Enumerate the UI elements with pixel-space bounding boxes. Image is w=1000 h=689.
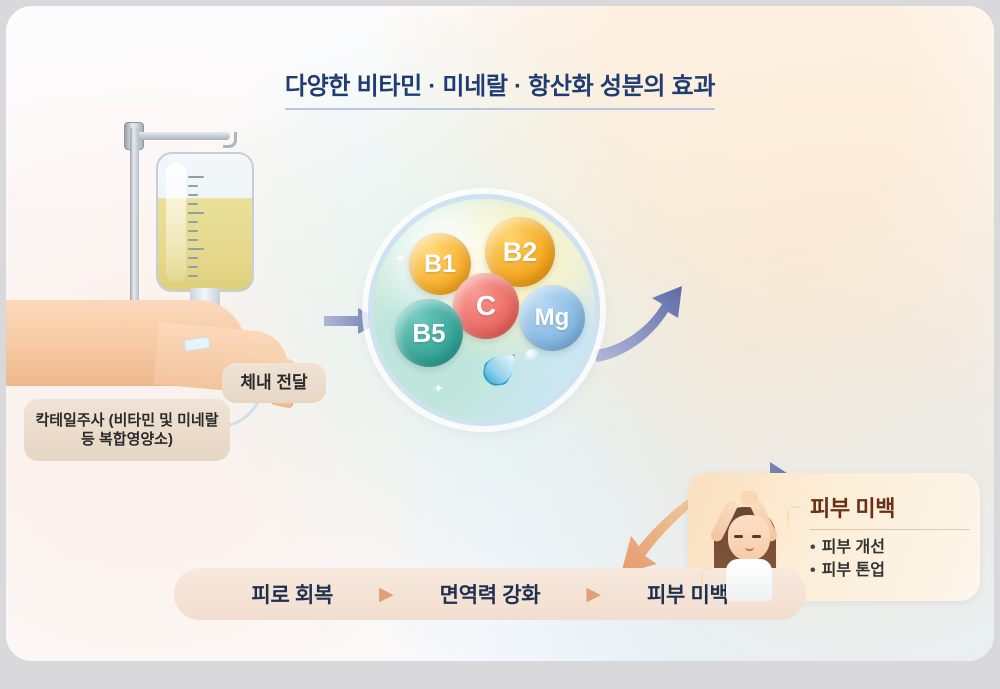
- page-title-wrap: 다양한 비타민 · 미네랄 · 항산화 성분의 효과: [6, 66, 994, 110]
- arrow-to-skin-card: [594, 284, 698, 388]
- page-title: 다양한 비타민 · 미네랄 · 항산화 성분의 효과: [285, 66, 715, 110]
- summary-step-2: 면역력 강화: [440, 579, 541, 609]
- nutrient-c: C: [453, 273, 519, 339]
- source-caption: 칵테일주사 (비타민 및 미네랄 등 복합영양소): [24, 399, 230, 461]
- benefit-list: 피부 개선 피부 톤업: [810, 537, 970, 582]
- nutrient-mg: Mg: [519, 285, 585, 351]
- bubble-icon: [525, 349, 539, 363]
- clasped-hands: [740, 491, 758, 505]
- nutrient-hub: ✦ ✦ ✦ ✦ ✦ ✦ B1 B2 C B5 Mg: [368, 194, 600, 426]
- iv-bag-gloss: [166, 162, 186, 282]
- benefit-text: 피부 미백 피부 개선 피부 톤업: [810, 491, 980, 582]
- benefit-card-skin[interactable]: 피부 미백 피부 개선 피부 톤업: [688, 473, 980, 601]
- benefit-item: 피부 톤업: [810, 560, 970, 583]
- face: [728, 515, 770, 561]
- iv-bag: [156, 152, 254, 292]
- torso: [726, 559, 772, 601]
- benefit-title: 피부 미백: [810, 491, 970, 530]
- iv-pole-arm: [132, 132, 230, 140]
- chevron-right-icon: ▶: [379, 583, 394, 606]
- deliver-label: 체내 전달: [222, 363, 326, 403]
- infographic-card: 다양한 비타민 · 미네랄 · 항산화 성분의 효과: [6, 6, 994, 661]
- summary-step-1: 피로 회복: [251, 579, 333, 609]
- benefit-item: 피부 개선: [810, 537, 970, 560]
- water-droplet-icon: [477, 344, 525, 392]
- nutrient-b5: B5: [395, 299, 463, 367]
- screenshot-root: 다양한 비타민 · 미네랄 · 항산화 성분의 효과: [0, 0, 1000, 689]
- chevron-right-icon: ▶: [586, 583, 601, 606]
- iv-bag-scale: [188, 176, 218, 276]
- iv-hook-icon: [223, 132, 237, 148]
